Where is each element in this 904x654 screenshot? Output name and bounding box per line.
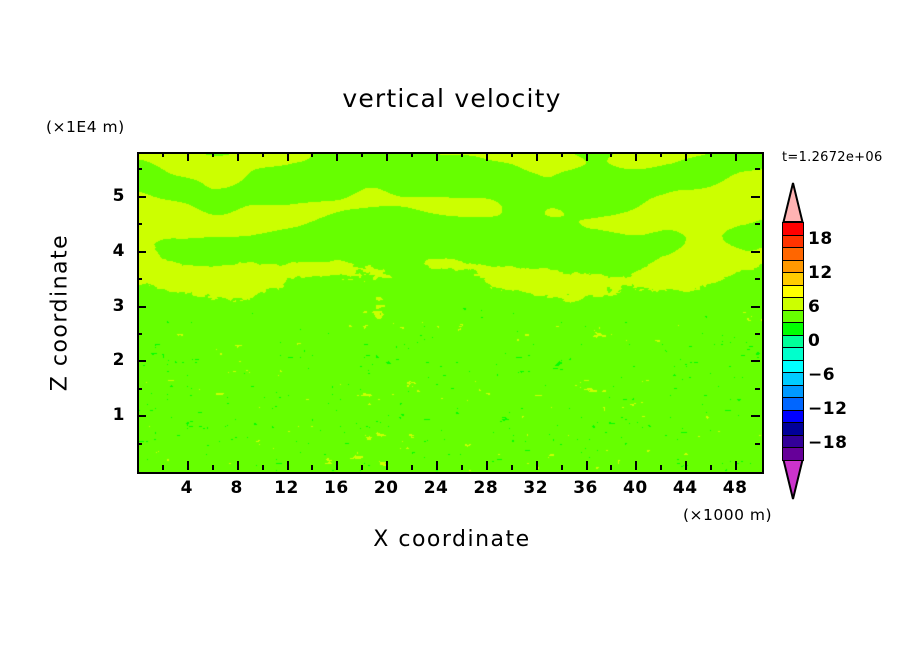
chart-title: vertical velocity bbox=[0, 84, 904, 113]
x-tick-top bbox=[735, 152, 737, 161]
y-axis-title: Z coordinate bbox=[48, 198, 73, 428]
y-tick-right bbox=[751, 196, 760, 198]
y-minor-tick bbox=[137, 168, 142, 170]
x-tick-label: 44 bbox=[673, 478, 698, 498]
x-major-tick bbox=[336, 461, 338, 470]
y-minor-tick bbox=[137, 223, 142, 225]
x-tick-top bbox=[237, 152, 239, 161]
x-tick-label: 24 bbox=[424, 478, 449, 498]
colorbar-band bbox=[782, 222, 804, 235]
x-major-tick bbox=[685, 461, 687, 470]
x-minor-tick bbox=[660, 465, 662, 470]
x-minor-tick bbox=[411, 465, 413, 470]
x-tick-top bbox=[386, 152, 388, 161]
y-tick-right bbox=[755, 278, 760, 280]
x-tick-label: 48 bbox=[723, 478, 748, 498]
colorbar-tick-label: −18 bbox=[808, 433, 847, 453]
y-major-tick bbox=[137, 415, 146, 417]
x-minor-tick bbox=[511, 465, 513, 470]
x-tick-top bbox=[311, 152, 313, 157]
x-tick-top bbox=[336, 152, 338, 161]
time-annotation: t=1.2672e+06 bbox=[782, 150, 883, 165]
x-tick-label: 20 bbox=[374, 478, 399, 498]
y-tick-right bbox=[755, 168, 760, 170]
x-minor-tick bbox=[461, 465, 463, 470]
y-tick-label: 1 bbox=[95, 405, 125, 425]
y-tick-label: 5 bbox=[95, 186, 125, 206]
x-tick-label: 28 bbox=[474, 478, 499, 498]
y-minor-tick bbox=[137, 388, 142, 390]
x-tick-top bbox=[262, 152, 264, 157]
x-tick-top bbox=[660, 152, 662, 157]
y-minor-tick bbox=[137, 443, 142, 445]
x-tick-top bbox=[287, 152, 289, 161]
colorbar-band bbox=[782, 447, 804, 460]
x-minor-tick bbox=[262, 465, 264, 470]
y-axis-unit-label: (×1E4 m) bbox=[46, 118, 125, 136]
colorbar-band bbox=[782, 297, 804, 310]
x-tick-top bbox=[586, 152, 588, 161]
x-minor-tick bbox=[361, 465, 363, 470]
colorbar-tick-label: 12 bbox=[808, 263, 833, 283]
x-minor-tick bbox=[311, 465, 313, 470]
colorbar-band bbox=[782, 435, 804, 448]
y-major-tick bbox=[137, 306, 146, 308]
y-tick-right bbox=[751, 306, 760, 308]
colorbar-band bbox=[782, 235, 804, 248]
x-tick-top bbox=[411, 152, 413, 157]
x-major-tick bbox=[486, 461, 488, 470]
chart-title-text: vertical velocity bbox=[342, 84, 561, 113]
x-major-tick bbox=[386, 461, 388, 470]
colorbar bbox=[782, 222, 804, 460]
x-major-tick bbox=[735, 461, 737, 470]
colorbar-band bbox=[782, 260, 804, 273]
colorbar-band bbox=[782, 322, 804, 335]
x-minor-tick bbox=[710, 465, 712, 470]
y-tick-right bbox=[755, 443, 760, 445]
y-major-tick bbox=[137, 196, 146, 198]
x-tick-top bbox=[511, 152, 513, 157]
colorbar-band bbox=[782, 310, 804, 323]
colorbar-band bbox=[782, 247, 804, 260]
chart-canvas-root: vertical velocity (×1E4 m) (×1000 m) t=1… bbox=[0, 0, 904, 654]
colorbar-band bbox=[782, 285, 804, 298]
colorbar-band bbox=[782, 385, 804, 398]
x-minor-tick bbox=[561, 465, 563, 470]
x-tick-label: 16 bbox=[324, 478, 349, 498]
y-tick-right bbox=[751, 251, 760, 253]
x-tick-top bbox=[635, 152, 637, 161]
colorbar-band bbox=[782, 360, 804, 373]
y-major-tick bbox=[137, 251, 146, 253]
x-major-tick bbox=[287, 461, 289, 470]
x-tick-top bbox=[486, 152, 488, 161]
x-tick-top bbox=[361, 152, 363, 157]
colorbar-band bbox=[782, 422, 804, 435]
x-tick-top bbox=[436, 152, 438, 161]
y-tick-right bbox=[755, 223, 760, 225]
x-tick-label: 32 bbox=[523, 478, 548, 498]
x-tick-top bbox=[685, 152, 687, 161]
x-axis-unit-label: (×1000 m) bbox=[683, 506, 772, 524]
colorbar-tick-label: −12 bbox=[808, 399, 847, 419]
x-tick-top bbox=[162, 152, 164, 157]
x-tick-label: 12 bbox=[274, 478, 299, 498]
x-minor-tick bbox=[212, 465, 214, 470]
x-major-tick bbox=[187, 461, 189, 470]
colorbar-band bbox=[782, 372, 804, 385]
x-minor-tick bbox=[610, 465, 612, 470]
colorbar-band bbox=[782, 397, 804, 410]
y-tick-label: 4 bbox=[95, 241, 125, 261]
colorbar-band bbox=[782, 410, 804, 423]
colorbar-band bbox=[782, 335, 804, 348]
x-tick-top bbox=[561, 152, 563, 157]
contour-plot-area bbox=[137, 152, 764, 474]
x-tick-label: 8 bbox=[231, 478, 243, 498]
colorbar-over-arrow bbox=[782, 182, 804, 222]
y-tick-label: 3 bbox=[95, 296, 125, 316]
y-tick-right bbox=[755, 388, 760, 390]
x-tick-top bbox=[187, 152, 189, 161]
x-tick-label: 40 bbox=[623, 478, 648, 498]
x-major-tick bbox=[536, 461, 538, 470]
x-tick-top bbox=[710, 152, 712, 157]
y-minor-tick bbox=[137, 278, 142, 280]
x-minor-tick bbox=[162, 465, 164, 470]
x-tick-top bbox=[212, 152, 214, 157]
y-minor-tick bbox=[137, 333, 142, 335]
y-tick-right bbox=[755, 333, 760, 335]
colorbar-band bbox=[782, 347, 804, 360]
colorbar-under-arrow bbox=[782, 460, 804, 500]
y-tick-right bbox=[751, 360, 760, 362]
y-tick-right bbox=[751, 415, 760, 417]
x-tick-top bbox=[610, 152, 612, 157]
colorbar-band bbox=[782, 272, 804, 285]
x-major-tick bbox=[436, 461, 438, 470]
x-major-tick bbox=[586, 461, 588, 470]
x-axis-title: X coordinate bbox=[0, 527, 904, 552]
velocity-field-image bbox=[139, 154, 762, 472]
x-major-tick bbox=[635, 461, 637, 470]
x-tick-top bbox=[536, 152, 538, 161]
x-tick-label: 4 bbox=[181, 478, 193, 498]
y-major-tick bbox=[137, 360, 146, 362]
colorbar-tick-label: 6 bbox=[808, 297, 820, 317]
y-tick-label: 2 bbox=[95, 350, 125, 370]
x-tick-top bbox=[461, 152, 463, 157]
x-major-tick bbox=[237, 461, 239, 470]
colorbar-tick-label: 18 bbox=[808, 229, 833, 249]
colorbar-tick-label: −6 bbox=[808, 365, 835, 385]
colorbar-tick-label: 0 bbox=[808, 331, 820, 351]
x-tick-label: 36 bbox=[573, 478, 598, 498]
